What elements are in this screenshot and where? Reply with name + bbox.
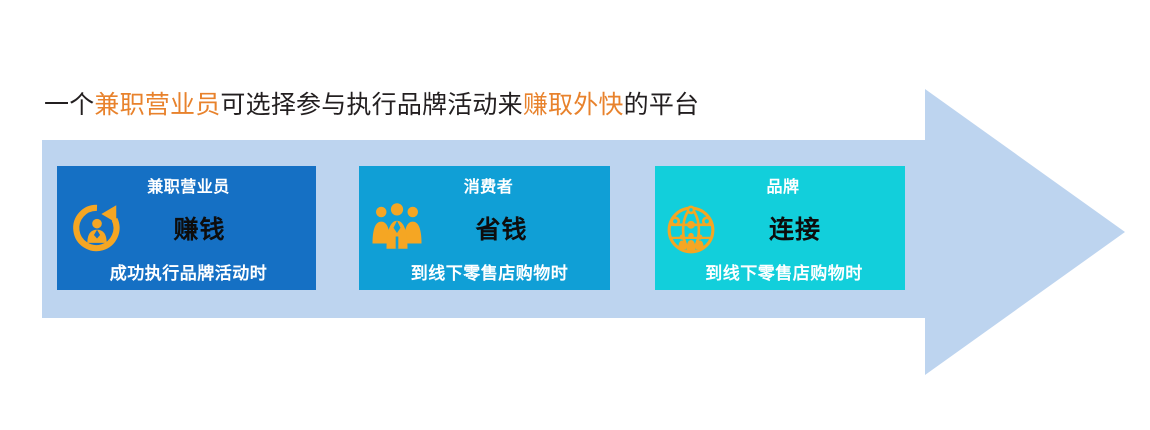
slide-canvas: 一个兼职营业员可选择参与执行品牌活动来赚取外快的平台 兼职营业员 赚钱 成功执行… bbox=[0, 0, 1150, 430]
page-title: 一个兼职营业员可选择参与执行品牌活动来赚取外快的平台 bbox=[44, 86, 744, 124]
title-highlight-earn: 赚取外快 bbox=[523, 91, 624, 119]
card-footer-label: 成功执行品牌活动时 bbox=[57, 259, 316, 284]
card-main-label: 连接 bbox=[655, 210, 905, 246]
card-header-label: 消费者 bbox=[359, 173, 610, 197]
title-highlight-worker: 兼职营业员 bbox=[94, 91, 220, 119]
card-main-label: 赚钱 bbox=[57, 210, 316, 246]
title-segment-2: 可选择参与执行品牌活动来 bbox=[220, 91, 522, 119]
card-footer-label: 到线下零售店购物时 bbox=[359, 259, 610, 284]
card-main-label: 省钱 bbox=[359, 210, 610, 246]
card-part-time-clerk[interactable]: 兼职营业员 赚钱 成功执行品牌活动时 bbox=[57, 166, 316, 290]
card-header-label: 兼职营业员 bbox=[57, 173, 316, 197]
card-brand[interactable]: 品牌 连接 到线下零售店购物时 bbox=[655, 166, 905, 290]
card-consumer[interactable]: 消费者 省钱 到线下零售店购物时 bbox=[359, 166, 610, 290]
card-footer-label: 到线下零售店购物时 bbox=[655, 259, 905, 284]
title-segment-3: 的平台 bbox=[624, 91, 700, 119]
card-header-label: 品牌 bbox=[655, 173, 905, 197]
title-segment-1: 一个 bbox=[44, 91, 94, 119]
